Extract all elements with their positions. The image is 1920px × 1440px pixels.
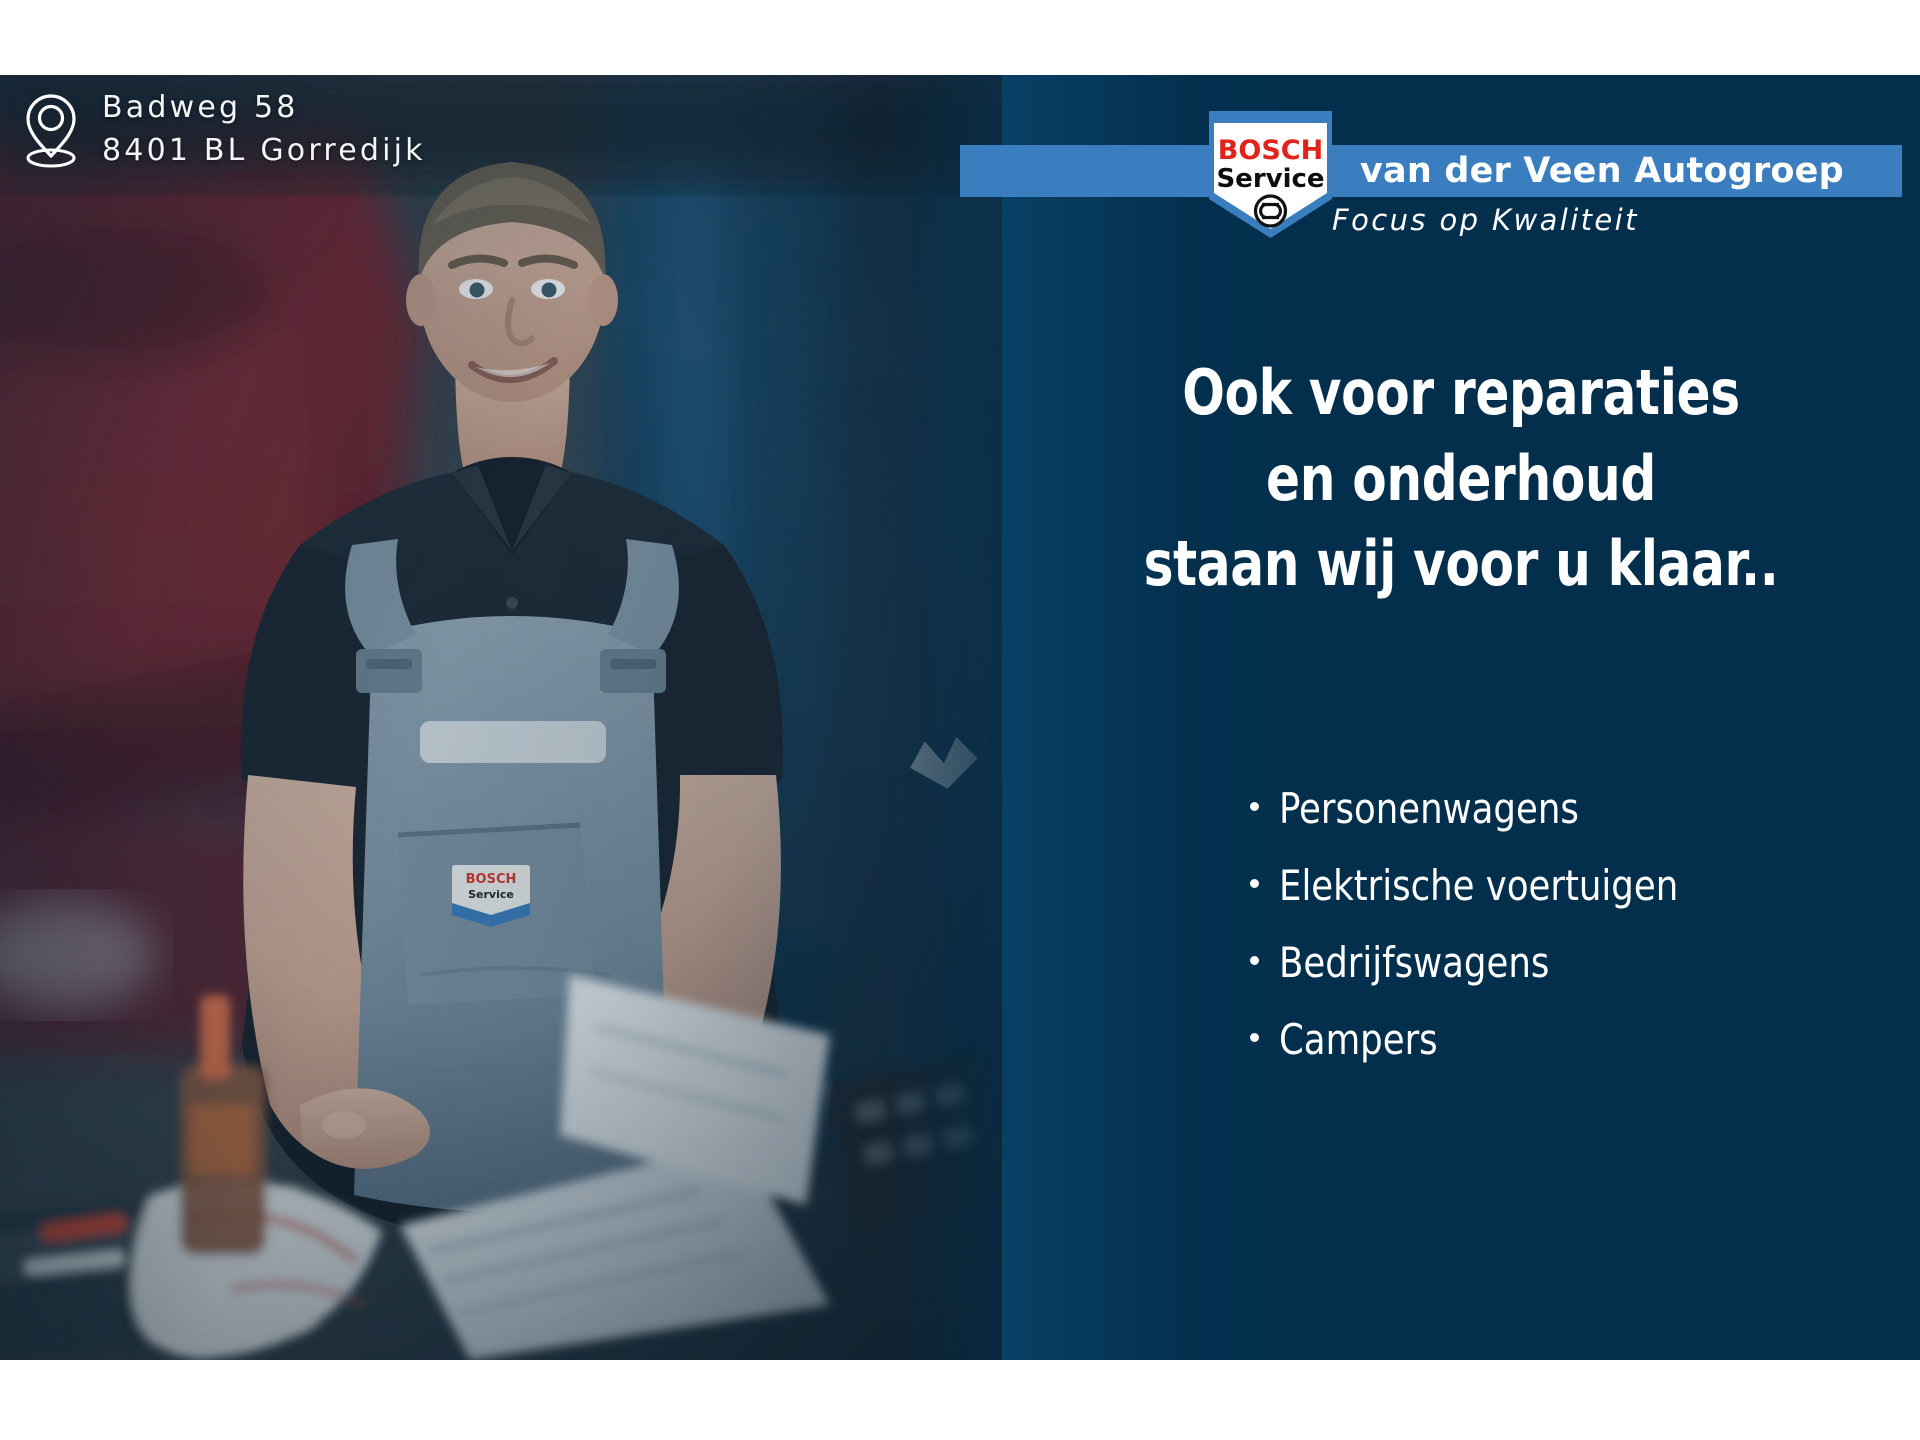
service-label: Personenwagens — [1279, 785, 1579, 832]
content-band: BOSCH Service — [0, 75, 1920, 1360]
svg-text:Service: Service — [468, 888, 514, 901]
service-label: Bedrijfswagens — [1279, 939, 1549, 986]
panel-sheen — [1002, 75, 1302, 1360]
bullet-icon — [1250, 879, 1259, 888]
company-tagline: Focus op Kwaliteit — [1332, 203, 1639, 237]
headline-line-3: staan wij voor u klaar.. — [1048, 521, 1874, 607]
address-block: Badweg 58 8401 BL Gorredijk — [22, 87, 426, 172]
workshop-photo-illustration: BOSCH Service — [0, 75, 1002, 1360]
svg-text:BOSCH: BOSCH — [466, 872, 517, 887]
address-line-1: Badweg 58 — [102, 87, 426, 130]
company-name: van der Veen Autogroep — [1360, 145, 1844, 197]
bullet-icon — [1250, 956, 1259, 965]
bosch-service-logo-mark: BOSCH Service — [1203, 107, 1338, 242]
list-item: Elektrische voertuigen — [1250, 862, 1890, 909]
bullet-icon — [1250, 802, 1259, 811]
service-wordmark: Service — [1216, 164, 1324, 194]
headline-line-1: Ook voor reparaties — [1048, 350, 1874, 436]
location-pin-icon — [22, 90, 80, 170]
list-item: Bedrijfswagens — [1250, 939, 1890, 986]
service-label: Campers — [1279, 1016, 1438, 1063]
bosch-wordmark: BOSCH — [1218, 135, 1323, 166]
bosch-service-logo[interactable]: BOSCH Service — [1203, 107, 1338, 242]
brand-lockup: BOSCH Service van der Veen Autogroep Foc… — [960, 107, 1920, 242]
address-text: Badweg 58 8401 BL Gorredijk — [102, 87, 426, 172]
list-item: Campers — [1250, 1016, 1890, 1063]
bullet-icon — [1250, 1033, 1259, 1042]
headline: Ook voor reparaties en onderhoud staan w… — [1048, 350, 1874, 607]
workshop-photo: BOSCH Service — [0, 75, 1002, 1360]
address-line-2: 8401 BL Gorredijk — [102, 130, 426, 173]
list-item: Personenwagens — [1250, 785, 1890, 832]
services-list: Personenwagens Elektrische voertuigen Be… — [1250, 785, 1890, 1093]
message-panel: BOSCH Service van der Veen Autogroep Foc… — [1002, 75, 1920, 1360]
advert-banner: BOSCH Service — [0, 0, 1920, 1440]
service-label: Elektrische voertuigen — [1279, 862, 1678, 909]
headline-line-2: en onderhoud — [1048, 436, 1874, 522]
